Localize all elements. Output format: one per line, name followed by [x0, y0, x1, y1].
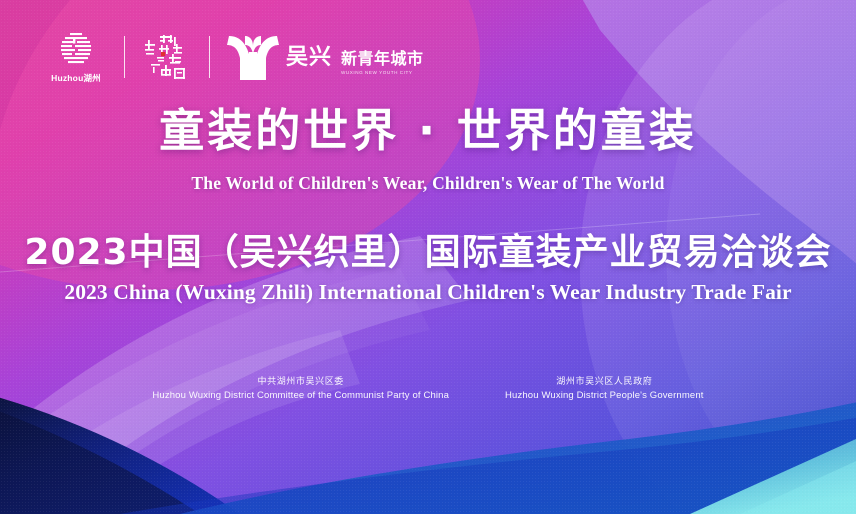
- wuxing-city-logo[interactable]: 吴兴 新青年城市 WUXING NEW YOUTH CITY: [226, 32, 424, 82]
- organizers-block: 中共湖州市吴兴区委 Huzhou Wuxing District Committ…: [0, 374, 856, 401]
- red-seal-mark: [161, 52, 165, 56]
- huzhou-city-logo[interactable]: Huzhou湖州: [44, 31, 108, 84]
- organizer-cn-name: 湖州市吴兴区人民政府: [505, 374, 704, 387]
- event-banner: Huzhou湖州: [0, 0, 856, 514]
- logo-divider-2: [209, 36, 210, 78]
- headline-block: 童装的世界 · 世界的童装 The World of Children's We…: [0, 104, 856, 194]
- organizer-item: 中共湖州市吴兴区委 Huzhou Wuxing District Committ…: [152, 374, 449, 401]
- huzhou-logo-label: Huzhou湖州: [51, 72, 101, 84]
- organizer-en-name: Huzhou Wuxing District Committee of the …: [152, 390, 449, 401]
- logo-divider-1: [124, 36, 125, 78]
- headline-chinese: 童装的世界 · 世界的童装: [0, 104, 856, 159]
- wuxing-logo-cn-label: 吴兴: [286, 39, 332, 71]
- headline-english: The World of Children's Wear, Children's…: [0, 173, 856, 194]
- huzhou-emblem-icon: [56, 31, 96, 69]
- logo-bar: Huzhou湖州: [44, 26, 424, 88]
- wuxing-y-mark-icon: [226, 32, 280, 82]
- organizer-item: 湖州市吴兴区人民政府 Huzhou Wuxing District People…: [505, 374, 704, 401]
- wuxing-slogan-en: WUXING NEW YOUTH CITY: [341, 70, 424, 75]
- organizer-cn-name: 中共湖州市吴兴区委: [152, 374, 449, 387]
- event-title-chinese: 2023中国（吴兴织里）国际童装产业贸易洽谈会: [0, 232, 856, 273]
- organizer-en-name: Huzhou Wuxing District People's Governme…: [505, 390, 704, 401]
- wuxing-slogan-cn: 新青年城市: [341, 45, 424, 69]
- event-title-english: 2023 China (Wuxing Zhili) International …: [0, 280, 856, 305]
- huzhou-calligraphy-logo[interactable]: [141, 31, 193, 83]
- event-title-block: 2023中国（吴兴织里）国际童装产业贸易洽谈会 2023 China (Wuxi…: [0, 232, 856, 305]
- calligraphy-seal-icon: [141, 31, 193, 83]
